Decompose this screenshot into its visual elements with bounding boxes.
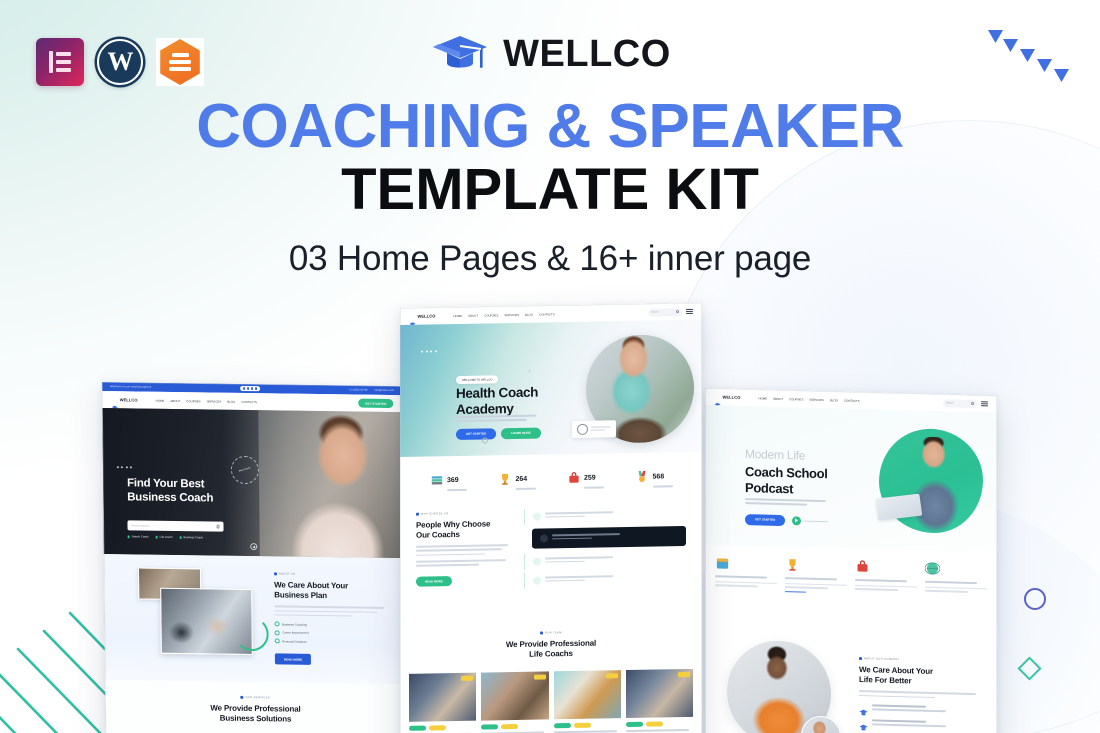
trophy-icon	[498, 472, 512, 486]
list-item	[859, 704, 981, 716]
mockup-center-team-section: OUR TEAM We Provide Professional Life Co…	[400, 620, 702, 733]
bag-icon	[855, 561, 870, 578]
hero-secondary-button[interactable]: LEARN MORE	[501, 428, 540, 439]
globe-icon	[925, 563, 940, 580]
accordion-item-title	[545, 575, 613, 584]
about-heading: We Care About Your Business Plan	[274, 580, 386, 602]
nav-item-blog[interactable]: BLOG	[830, 398, 838, 402]
medal-icon	[635, 469, 649, 483]
list-item[interactable]	[554, 670, 621, 733]
cap-icon	[859, 719, 868, 728]
business-coach-homepage-mockup[interactable]: Welcome to our coaching agency +1 (234) …	[102, 382, 406, 733]
card-meta	[626, 721, 693, 727]
hero-best-coach-badge: Best Coach	[231, 456, 259, 484]
calendar-icon	[715, 557, 730, 574]
mockup-center-stats-row: 369 264	[400, 452, 702, 503]
stat-value: 264	[516, 476, 528, 483]
nav-logo-text: WELLCO	[120, 397, 138, 402]
menu-icon[interactable]	[981, 401, 988, 407]
hero-title-bold: Coach School Podcast	[745, 464, 827, 498]
nav-search-placeholder: Search	[651, 310, 659, 313]
nav-cta-button[interactable]: GET STARTED	[358, 399, 393, 408]
cap-icon	[859, 704, 868, 713]
stat-label	[584, 487, 604, 489]
accordion-item-title	[545, 556, 613, 565]
hero-tag-list: Search Coach Life Coach Business Coach	[128, 535, 203, 539]
about-paragraph-placeholder	[274, 606, 386, 618]
nav-logo[interactable]: WELLCO	[714, 394, 740, 400]
about-feature-list: Business Coaching Career Improvement Per…	[275, 622, 387, 645]
list-item: 264	[498, 468, 536, 490]
plus-decoration: +	[528, 369, 531, 375]
bag-icon	[567, 471, 581, 485]
nav-item-services[interactable]: SERVICES	[207, 399, 222, 403]
eyebrow-label: ABOUT OUR COMPANY	[864, 657, 900, 661]
about-text-block: ABOUT US We Care About Your Business Pla…	[274, 572, 387, 666]
page-title-line-1: COACHING & SPEAKER	[0, 94, 1100, 159]
hero-search-placeholder: Search coaches...	[131, 524, 151, 527]
nav-item-courses[interactable]: COURSES	[186, 399, 200, 403]
nav-item-home[interactable]: HOME	[758, 396, 767, 400]
nav-search-input[interactable]: Search	[648, 308, 682, 317]
topbar-contact-group: +1 (234) 567-89 info@wellco.com	[349, 388, 394, 392]
mockup-right-care-section: ABOUT OUR COMPANY We Care About Your Lif…	[705, 623, 997, 733]
hero-welcome-pill: WELCOME TO WELLCO	[456, 375, 498, 384]
stat-label	[653, 485, 673, 487]
play-icon	[792, 516, 801, 525]
about-read-more-button[interactable]: READ MORE	[275, 653, 311, 665]
section-eyebrow: ABOUT US	[274, 572, 386, 577]
scroll-down-icon[interactable]	[250, 543, 257, 550]
list-item[interactable]	[925, 561, 987, 598]
card-tag	[606, 673, 618, 678]
care-feature-title	[872, 705, 946, 716]
nav-menu[interactable]: HOME ABOUT COURSES SERVICES BLOG CONTACT…	[758, 396, 859, 403]
card-meta	[409, 725, 476, 731]
section-eyebrow: OUR TEAM	[400, 628, 702, 636]
watch-video-label	[804, 520, 828, 522]
social-icons-group[interactable]	[240, 386, 260, 390]
nav-item-services[interactable]: SERVICES	[809, 397, 824, 401]
hero-title: Health Coach Academy	[456, 385, 538, 419]
nav-item-courses[interactable]: COURSES	[789, 397, 803, 401]
list-item[interactable]	[409, 673, 476, 733]
feature-label: Personal Guidance	[282, 639, 307, 643]
hero-button-group: GET STARTED	[745, 514, 828, 527]
graduation-cap-icon	[714, 394, 721, 399]
hero-tag-life-coach[interactable]: Life Coach	[156, 536, 173, 539]
graduation-cap-icon	[409, 314, 416, 319]
list-item: Career Improvement	[275, 630, 387, 637]
check-icon	[533, 576, 541, 584]
section-eyebrow: OUR SERVICES	[105, 694, 405, 701]
hero-paragraph-placeholder	[456, 415, 538, 425]
list-item[interactable]	[715, 555, 777, 592]
poster-canvas: W WELLCO COACHING & SPEAKER TEMPLATE KIT	[0, 0, 1100, 733]
stat-value: 369	[447, 477, 459, 484]
mockup-left-about-section: ABOUT US We Care About Your Business Pla…	[104, 554, 405, 684]
eyebrow-marker-icon	[540, 631, 543, 634]
list-item: 568	[635, 465, 673, 487]
hero-primary-button[interactable]: GET STARTED	[456, 428, 496, 439]
eyebrow-label: OUR SERVICES	[246, 696, 270, 699]
hero-badge-label: Best Coach	[239, 467, 251, 472]
list-item[interactable]	[626, 669, 693, 733]
hero-photo-man-laptop	[879, 428, 983, 535]
feature-label: Career Improvement	[282, 631, 309, 635]
nav-item-services[interactable]: SERVICES	[504, 312, 519, 316]
card-meta	[481, 724, 548, 730]
nav-item-about[interactable]: ABOUT	[468, 313, 478, 317]
hero-tag-business-coach[interactable]: Business Coach	[179, 536, 202, 539]
eyebrow-marker-icon	[241, 696, 244, 699]
hero-watch-video-button[interactable]	[792, 516, 828, 526]
eyebrow-marker-icon	[274, 572, 277, 575]
why-text-block: WHY CHOOSE US People Why Choose Our Coac…	[416, 511, 512, 588]
care-paragraph-placeholder	[859, 691, 981, 700]
coach-school-podcast-homepage-mockup[interactable]: WELLCO HOME ABOUT COURSES SERVICES BLOG …	[705, 388, 997, 733]
eyebrow-label: OUR TEAM	[545, 631, 562, 634]
hero-award-badge	[572, 420, 616, 438]
mockup-right-hero: Modern Life Coach School Podcast GET STA…	[705, 405, 997, 553]
eyebrow-label: WHY CHOOSE US	[421, 512, 449, 515]
mockup-left-hero: Best Coach Find Your Best Business Coach…	[102, 408, 404, 558]
hero-paragraph-placeholder	[745, 498, 829, 509]
why-read-more-button[interactable]: READ MORE	[416, 576, 452, 587]
books-icon	[430, 473, 444, 487]
nav-item-blog[interactable]: BLOG	[227, 399, 235, 403]
hero-title-light: Modern Life	[745, 448, 805, 463]
mockup-left-solutions-section: OUR SERVICES We Provide Professional Bus…	[105, 680, 406, 733]
nav-item-contacts[interactable]: CONTACTS	[844, 398, 860, 402]
topbar-email: info@wellco.com	[374, 389, 394, 392]
stat-value: 259	[584, 475, 596, 482]
award-seal-icon	[577, 424, 588, 435]
award-badge-label	[591, 426, 611, 432]
graduation-cap-icon	[111, 397, 118, 402]
accordion-item-title	[545, 511, 613, 520]
circle-outline-decoration	[1024, 588, 1046, 610]
list-item: Personal Guidance	[275, 639, 387, 646]
card-photo-city	[481, 672, 548, 721]
health-coach-academy-homepage-mockup[interactable]: WELLCO HOME ABOUT COURSES SERVICES BLOG …	[400, 303, 702, 733]
eyebrow-marker-icon	[416, 512, 419, 515]
menu-icon[interactable]	[686, 309, 693, 314]
mockup-center-why-section: WHY CHOOSE US People Why Choose Our Coac…	[400, 497, 702, 625]
check-icon	[540, 534, 548, 542]
accordion-item[interactable]	[524, 506, 686, 525]
section-eyebrow: ABOUT OUR COMPANY	[859, 657, 981, 663]
nav-logo-text: WELLCO	[418, 313, 436, 318]
care-feature-list	[859, 704, 981, 731]
why-paragraph-placeholder	[416, 544, 512, 556]
nav-item-contacts[interactable]: CONTACTS	[539, 312, 555, 316]
eyebrow-label: ABOUT US	[279, 572, 295, 575]
topbar-welcome-text: Welcome to our coaching agency	[110, 385, 151, 389]
green-ring-decoration	[234, 617, 268, 651]
scroll-down-icon[interactable]	[482, 437, 488, 443]
page-subtitle: 03 Home Pages & 16+ inner page	[0, 239, 1100, 279]
nav-item-blog[interactable]: BLOG	[525, 312, 533, 316]
check-icon	[533, 512, 541, 520]
hero-photo-woman-blazer	[258, 410, 404, 558]
card-meta	[554, 722, 621, 728]
about-media-group	[138, 567, 259, 657]
brand-logo: WELLCO	[0, 32, 1100, 76]
accordion-item[interactable]	[524, 570, 686, 589]
hero-search-input[interactable]: Search coaches...	[127, 520, 223, 531]
nav-menu[interactable]: HOME ABOUT COURSES SERVICES BLOG CONTACT…	[156, 398, 257, 403]
feature-label: Business Coaching	[282, 622, 307, 626]
mockup-center-hero: WELCOME TO WELLCO Health Coach Academy G…	[400, 320, 702, 457]
nav-item-home[interactable]: HOME	[453, 313, 462, 317]
care-text-block: ABOUT OUR COMPANY We Care About Your Lif…	[859, 657, 981, 733]
nav-item-about[interactable]: ABOUT	[170, 398, 180, 402]
card-tag	[678, 672, 690, 677]
eyebrow-marker-icon	[859, 657, 862, 660]
nav-item-courses[interactable]: COURSES	[484, 313, 498, 317]
topbar-phone: +1 (234) 567-89	[349, 388, 368, 391]
list-item[interactable]	[855, 559, 917, 596]
card-photo-meeting	[626, 669, 693, 718]
list-item: 259	[567, 466, 605, 488]
stat-value: 568	[653, 473, 665, 480]
list-item: Business Coaching	[275, 622, 387, 629]
why-paragraph-placeholder-2	[416, 559, 512, 566]
search-icon	[216, 525, 219, 528]
nav-search-input[interactable]: Search	[943, 399, 977, 408]
stat-label	[516, 488, 536, 490]
hero-title: Find Your Best Business Coach	[127, 476, 213, 505]
hero-tag-search-coach[interactable]: Search Coach	[128, 535, 149, 538]
list-item[interactable]	[785, 557, 847, 594]
nav-logo[interactable]: WELLCO	[409, 313, 435, 318]
nav-search-placeholder: Search	[946, 401, 954, 404]
why-accordion	[524, 506, 686, 592]
nav-item-contacts[interactable]: CONTACTS	[241, 399, 257, 403]
care-heading: We Care About Your Life For Better	[859, 665, 981, 689]
care-feature-title	[872, 720, 946, 731]
list-item: 369	[430, 469, 468, 491]
card-photo-group-men	[409, 673, 476, 722]
logo-text: WELLCO	[503, 35, 671, 73]
why-heading: People Why Choose Our Coachs	[416, 519, 512, 541]
accordion-item[interactable]	[524, 551, 686, 570]
nav-logo[interactable]: WELLCO	[111, 397, 137, 402]
team-card-grid	[400, 657, 702, 733]
hero-button-group: GET STARTED LEARN MORE	[456, 428, 541, 440]
graduation-cap-icon	[429, 32, 491, 76]
list-item	[859, 719, 981, 731]
check-icon	[533, 557, 541, 565]
mockup-right-features-section	[705, 545, 997, 631]
search-icon	[971, 402, 974, 405]
nav-item-about[interactable]: ABOUT	[773, 396, 783, 400]
accordion-item-active[interactable]	[532, 526, 686, 549]
card-photo-food	[554, 670, 621, 719]
accordion-item-title	[552, 533, 620, 542]
page-title-line-2: TEMPLATE KIT	[0, 160, 1100, 221]
section-eyebrow: WHY CHOOSE US	[416, 511, 512, 516]
hero-dots-decoration	[421, 350, 437, 352]
card-tag	[461, 676, 473, 681]
stat-label	[447, 489, 467, 491]
search-icon	[676, 310, 679, 313]
nav-menu[interactable]: HOME ABOUT COURSES SERVICES BLOG CONTACT…	[453, 312, 554, 318]
list-item[interactable]	[481, 672, 548, 733]
nav-logo-text: WELLCO	[723, 394, 741, 399]
nav-item-home[interactable]: HOME	[156, 398, 165, 402]
hero-primary-button[interactable]: GET STARTED	[745, 514, 785, 526]
trophy-icon	[785, 559, 800, 576]
card-tag	[534, 675, 546, 680]
hero-dots-decoration	[117, 466, 132, 468]
hero-man-figure	[891, 436, 973, 534]
card-title	[626, 729, 693, 733]
